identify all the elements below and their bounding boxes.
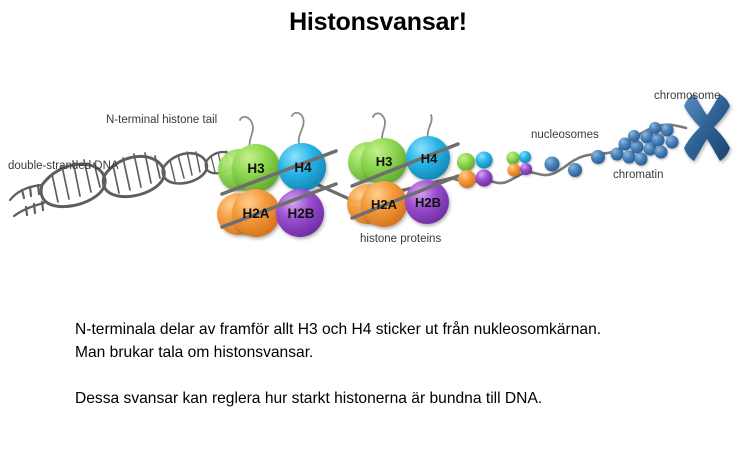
histone-label-h2b-2: H2B — [415, 195, 441, 210]
chromosome-icon — [684, 94, 730, 161]
label-double-stranded-dna: double-stranded DNA — [8, 161, 119, 173]
nucleosome-bead — [568, 163, 582, 177]
body-paragraph-1-line-2: Man brukar tala om histonsvansar. — [75, 341, 715, 364]
n-terminal-histone-tail-h4-2 — [428, 115, 432, 138]
n-terminal-histone-tail-h4 — [292, 113, 304, 144]
histone-label-h2b: H2B — [287, 206, 314, 221]
histone-cluster-small-1 — [457, 152, 493, 189]
body-paragraph-2: Dessa svansar kan reglera hur starkt his… — [75, 387, 715, 410]
body-paragraph-1-line-1: N-terminala delar av framför allt H3 och… — [75, 318, 715, 341]
histone-octamer-2: H3 H4 H2A H2B — [347, 113, 458, 227]
histone-label-h4-2: H4 — [421, 151, 438, 166]
histone-label-h3: H3 — [247, 161, 265, 176]
slide-canvas: Histonsvansar! — [0, 0, 756, 474]
label-chromatin: chromatin — [613, 170, 664, 182]
histone-label-h2a-2: H2A — [371, 197, 398, 212]
dna-packaging-figure: H3 H4 H2A H2B — [0, 82, 756, 267]
label-histone-proteins: histone proteins — [360, 234, 441, 246]
page-title: Histonsvansar! — [0, 8, 756, 37]
histone-label-h2a: H2A — [242, 206, 269, 221]
label-nucleosomes: nucleosomes — [531, 130, 599, 142]
nucleosome-bead — [591, 150, 605, 164]
histone-octamer-1: H3 H4 H2A H2B — [217, 113, 336, 237]
paragraph-spacer — [75, 364, 715, 387]
chromatin-condensed-beads — [611, 122, 679, 166]
label-n-terminal-histone-tail: N-terminal histone tail — [106, 115, 217, 127]
histone-label-h3-2: H3 — [376, 154, 393, 169]
histone-cluster-small-2 — [507, 151, 533, 177]
nucleosome-bead — [545, 157, 560, 172]
histone-label-h4: H4 — [294, 160, 312, 175]
body-text-block: N-terminala delar av framför allt H3 och… — [75, 318, 715, 410]
label-chromosome: chromosome — [654, 91, 720, 103]
